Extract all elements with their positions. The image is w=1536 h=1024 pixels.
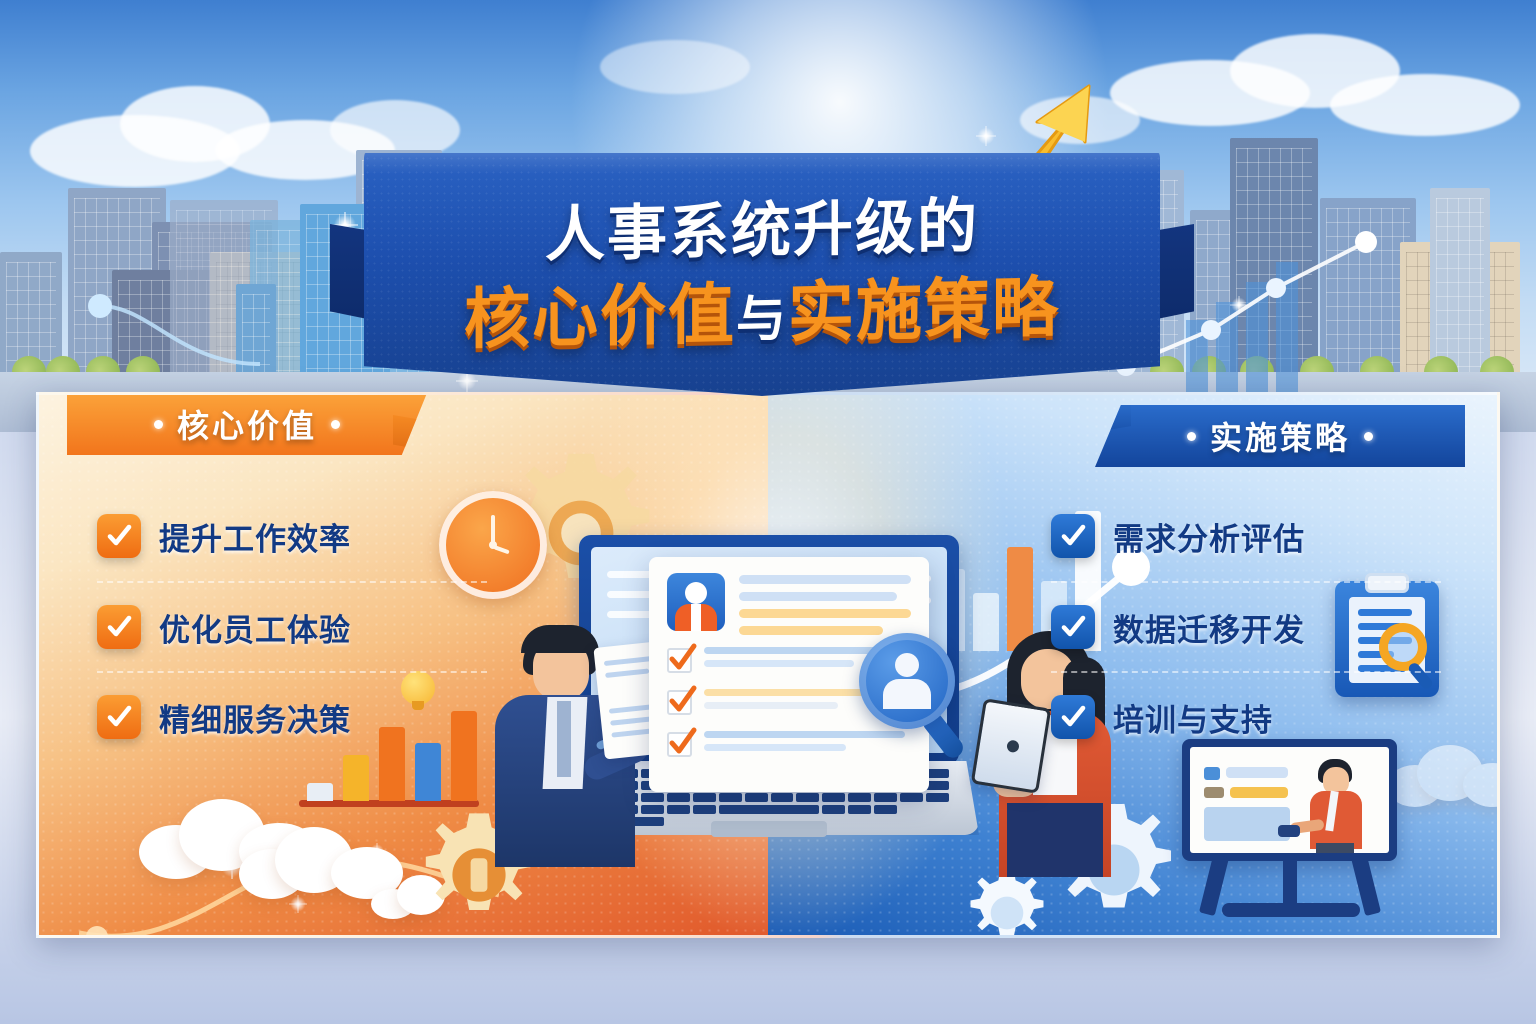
list-item-label: 需求分析评估 bbox=[1113, 514, 1305, 559]
left-panel-header: 核心价值 bbox=[67, 393, 427, 455]
implementation-strategy-list: 需求分析评估 数据迁移开发 培训与支持 bbox=[1051, 491, 1441, 761]
check-icon[interactable] bbox=[667, 648, 692, 673]
tablet-icon[interactable] bbox=[971, 698, 1052, 794]
core-value-list: 提升工作效率 优化员工体验 精细服务决策 bbox=[97, 491, 487, 761]
list-item-label: 精细服务决策 bbox=[159, 695, 351, 740]
check-icon[interactable] bbox=[97, 695, 141, 739]
title-strategy: 实施策略 bbox=[788, 270, 1060, 350]
list-item-label: 提升工作效率 bbox=[159, 514, 351, 559]
infographic-poster: 人事系统升级的 核心价值与实施策略 bbox=[0, 0, 1536, 1024]
check-icon[interactable] bbox=[1051, 514, 1095, 558]
training-presentation-board bbox=[1182, 739, 1397, 914]
list-item[interactable]: 优化员工体验 bbox=[97, 581, 487, 671]
left-connector-line bbox=[40, 240, 320, 390]
list-item[interactable]: 数据迁移开发 bbox=[1051, 581, 1441, 671]
dot-icon bbox=[154, 420, 163, 429]
dot-icon bbox=[1364, 432, 1373, 441]
dot-icon bbox=[331, 420, 340, 429]
laptop-trackpad[interactable] bbox=[711, 821, 827, 837]
list-item-label: 数据迁移开发 bbox=[1113, 605, 1305, 650]
dot-icon bbox=[1187, 432, 1196, 441]
check-icon[interactable] bbox=[1051, 695, 1095, 739]
content-card: 核心价值 实施策略 提升工作效率 优化员工体验 bbox=[36, 392, 1500, 938]
list-item[interactable]: 提升工作效率 bbox=[97, 491, 487, 581]
check-icon[interactable] bbox=[667, 732, 692, 757]
left-panel-title: 核心价值 bbox=[177, 401, 317, 447]
list-item[interactable]: 培训与支持 bbox=[1051, 671, 1441, 761]
avatar bbox=[667, 573, 725, 631]
check-icon[interactable] bbox=[97, 605, 141, 649]
list-item-label: 优化员工体验 bbox=[159, 605, 351, 650]
check-icon[interactable] bbox=[97, 514, 141, 558]
title-core-value: 核心价值 bbox=[464, 277, 736, 357]
check-icon[interactable] bbox=[667, 690, 692, 715]
banner-face: 人事系统升级的 核心价值与实施策略 bbox=[364, 148, 1160, 396]
title-banner: 人事系统升级的 核心价值与实施策略 bbox=[352, 148, 1172, 410]
title-line-2: 核心价值与实施策略 bbox=[364, 252, 1160, 365]
check-icon[interactable] bbox=[1051, 605, 1095, 649]
right-panel-title: 实施策略 bbox=[1210, 413, 1350, 459]
title-conjunction: 与 bbox=[736, 290, 788, 347]
list-item[interactable]: 需求分析评估 bbox=[1051, 491, 1441, 581]
right-panel-header: 实施策略 bbox=[1095, 405, 1465, 467]
list-item[interactable]: 精细服务决策 bbox=[97, 671, 487, 761]
people-search-magnifier-icon bbox=[859, 633, 971, 765]
list-item-label: 培训与支持 bbox=[1113, 695, 1273, 740]
